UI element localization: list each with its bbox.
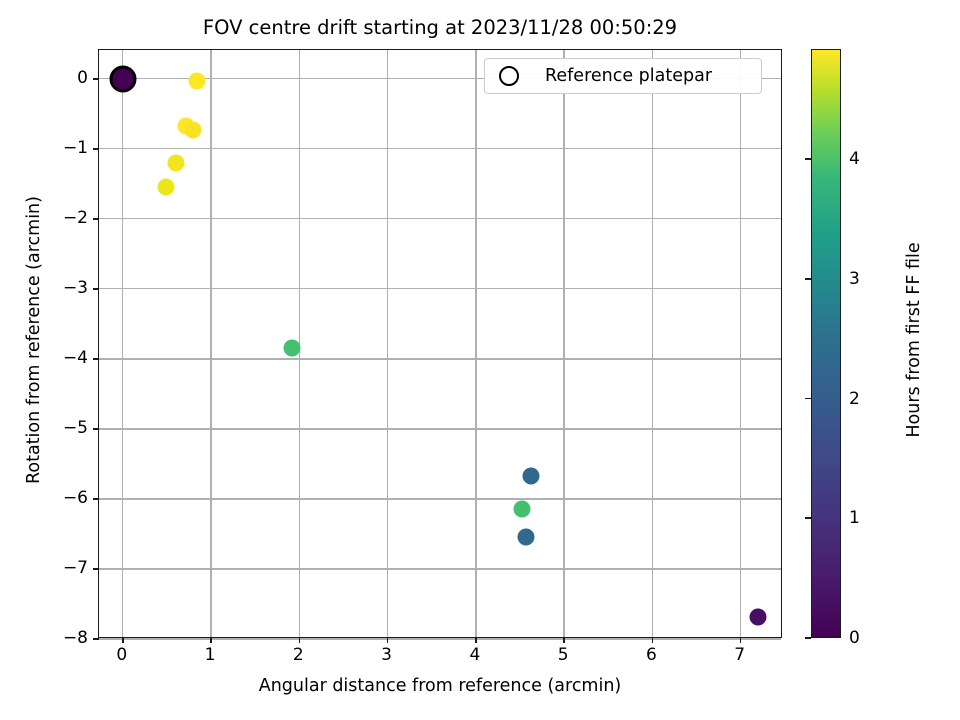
- y-tick-mark: [93, 288, 99, 290]
- y-tick-mark: [93, 148, 99, 150]
- x-tick-mark: [210, 637, 212, 643]
- x-tick-mark: [563, 637, 565, 643]
- colorbar-tick-label: 4: [849, 149, 860, 169]
- y-tick-label: −7: [6, 558, 88, 578]
- colorbar: 01234: [811, 49, 841, 638]
- y-tick-label: −8: [6, 628, 88, 648]
- scatter-point: [518, 529, 535, 546]
- colorbar-tick-label: 3: [849, 269, 860, 289]
- colorbar-tick-mark: [805, 517, 811, 519]
- colorbar-tick-mark: [805, 398, 811, 400]
- scatter-points: [99, 50, 781, 637]
- legend-item-label: Reference platepar: [545, 66, 712, 86]
- scatter-point: [188, 72, 205, 89]
- x-tick-mark: [387, 637, 389, 643]
- x-tick-label: 6: [646, 645, 657, 665]
- y-tick-label: −4: [6, 348, 88, 368]
- colorbar-tick-mark: [805, 637, 811, 639]
- scatter-point: [184, 121, 201, 138]
- x-tick-mark: [122, 637, 124, 643]
- colorbar-tick-label: 2: [849, 389, 860, 409]
- scatter-point: [750, 608, 767, 625]
- y-tick-mark: [93, 498, 99, 500]
- y-tick-mark: [93, 638, 99, 640]
- scatter-point: [513, 500, 530, 517]
- x-tick-mark: [299, 637, 301, 643]
- x-tick-label: 4: [469, 645, 480, 665]
- colorbar-label: Hours from first FF file: [904, 40, 924, 640]
- x-tick-mark: [652, 637, 654, 643]
- plot-axes: [98, 49, 782, 638]
- scatter-point: [284, 339, 301, 356]
- y-tick-label: −5: [6, 418, 88, 438]
- reference-platepar-marker-icon: [499, 66, 519, 86]
- scatter-point: [167, 155, 184, 172]
- page-title: FOV centre drift starting at 2023/11/28 …: [98, 16, 782, 40]
- colorbar-tick-mark: [805, 158, 811, 160]
- colorbar-tick-label: 1: [849, 508, 860, 528]
- x-tick-label: 7: [734, 645, 745, 665]
- y-tick-label: −2: [6, 208, 88, 228]
- y-tick-label: −3: [6, 278, 88, 298]
- x-tick-label: 3: [381, 645, 392, 665]
- colorbar-gradient: [811, 49, 841, 638]
- y-tick-mark: [93, 428, 99, 430]
- y-tick-label: 0: [6, 68, 88, 88]
- reference-platepar-point: [109, 65, 136, 92]
- x-tick-mark: [740, 637, 742, 643]
- scatter-point: [158, 178, 175, 195]
- y-tick-mark: [93, 218, 99, 220]
- scatter-point: [522, 467, 539, 484]
- colorbar-tick-mark: [805, 278, 811, 280]
- y-tick-mark: [93, 568, 99, 570]
- colorbar-tick-label: 0: [849, 628, 860, 648]
- y-tick-label: −1: [6, 138, 88, 158]
- x-tick-label: 5: [558, 645, 569, 665]
- x-tick-label: 0: [116, 645, 127, 665]
- x-tick-label: 2: [293, 645, 304, 665]
- y-tick-label: −6: [6, 488, 88, 508]
- x-tick-mark: [475, 637, 477, 643]
- y-tick-mark: [93, 358, 99, 360]
- matplotlib-figure: FOV centre drift starting at 2023/11/28 …: [0, 0, 960, 720]
- y-tick-mark: [93, 78, 99, 80]
- x-tick-label: 1: [205, 645, 216, 665]
- x-axis-label: Angular distance from reference (arcmin): [98, 676, 782, 696]
- y-axis-label: Rotation from reference (arcmin): [24, 40, 44, 640]
- gridline-horizontal: [99, 638, 781, 639]
- legend: Reference platepar: [484, 58, 762, 94]
